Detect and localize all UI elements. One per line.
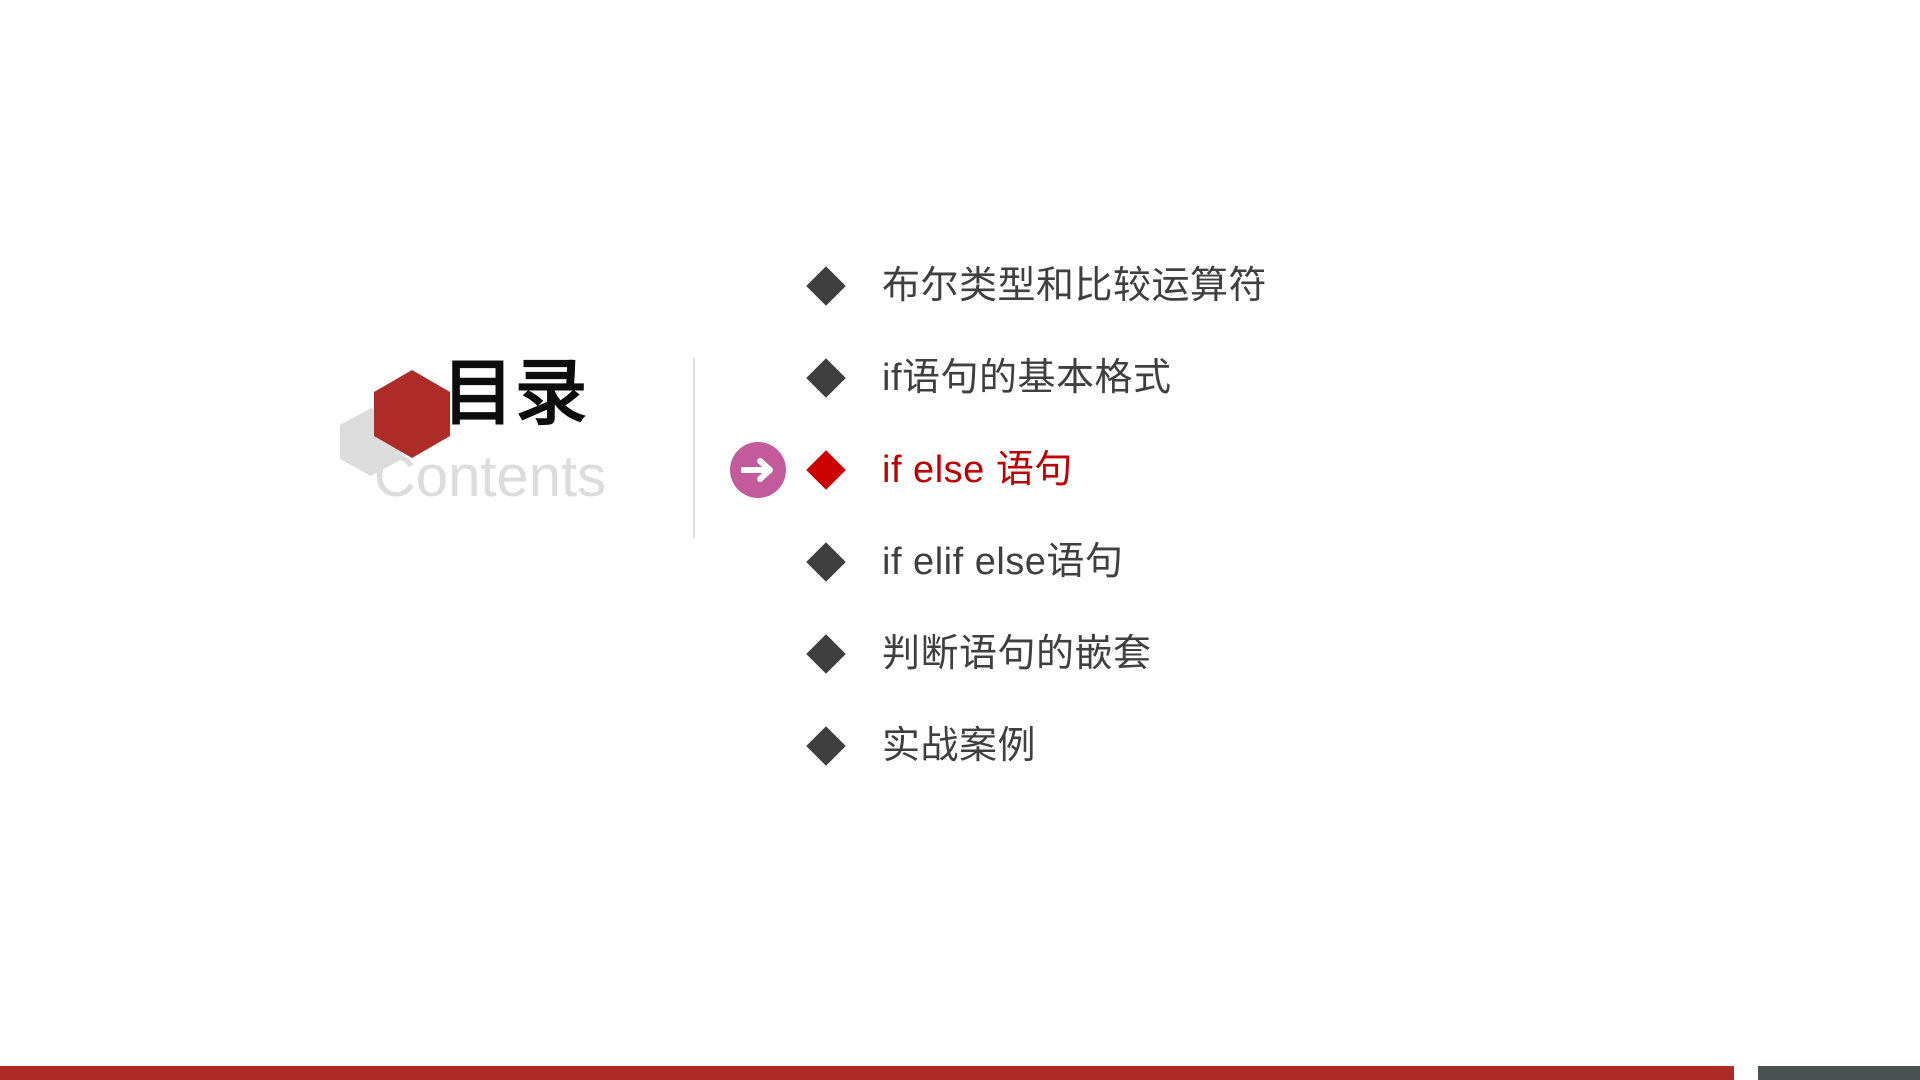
contents-brand-block: 目录 Contents xyxy=(340,362,640,542)
footer-bar-red xyxy=(0,1066,1734,1080)
contents-item-label: 实战案例 xyxy=(856,727,1036,765)
contents-item-4[interactable]: if elif else语句 xyxy=(730,516,1630,608)
page-subtitle: Contents xyxy=(340,448,640,506)
diamond-bullet-icon xyxy=(806,634,846,674)
vertical-divider xyxy=(693,358,695,538)
marker-slot xyxy=(730,516,812,608)
contents-list: 布尔类型和比较运算符 if语句的基本格式 xyxy=(730,240,1630,792)
contents-item-label: if elif else语句 xyxy=(856,543,1123,581)
diamond-bullet-icon xyxy=(806,266,846,306)
contents-item-5[interactable]: 判断语句的嵌套 xyxy=(730,608,1630,700)
slide-canvas: 目录 Contents 布尔类型和比较运算符 xyxy=(0,0,1920,1080)
diamond-bullet-icon xyxy=(806,726,846,766)
page-title: 目录 xyxy=(442,358,588,430)
marker-slot xyxy=(730,332,812,424)
marker-slot xyxy=(730,424,812,516)
diamond-bullet-icon xyxy=(806,358,846,398)
contents-item-1[interactable]: 布尔类型和比较运算符 xyxy=(730,240,1630,332)
contents-item-label: if else 语句 xyxy=(856,451,1073,489)
marker-slot xyxy=(730,700,812,792)
contents-item-2[interactable]: if语句的基本格式 xyxy=(730,332,1630,424)
footer-bar-dark xyxy=(1758,1066,1920,1080)
contents-item-label: if语句的基本格式 xyxy=(856,359,1172,397)
diamond-bullet-icon xyxy=(806,450,846,490)
contents-item-label: 布尔类型和比较运算符 xyxy=(856,267,1267,305)
contents-item-3-active[interactable]: if else 语句 xyxy=(730,424,1630,516)
marker-slot xyxy=(730,240,812,332)
marker-slot xyxy=(730,608,812,700)
contents-item-6[interactable]: 实战案例 xyxy=(730,700,1630,792)
arrow-right-circle-icon xyxy=(730,442,786,498)
diamond-bullet-icon xyxy=(806,542,846,582)
contents-item-label: 判断语句的嵌套 xyxy=(856,635,1152,673)
